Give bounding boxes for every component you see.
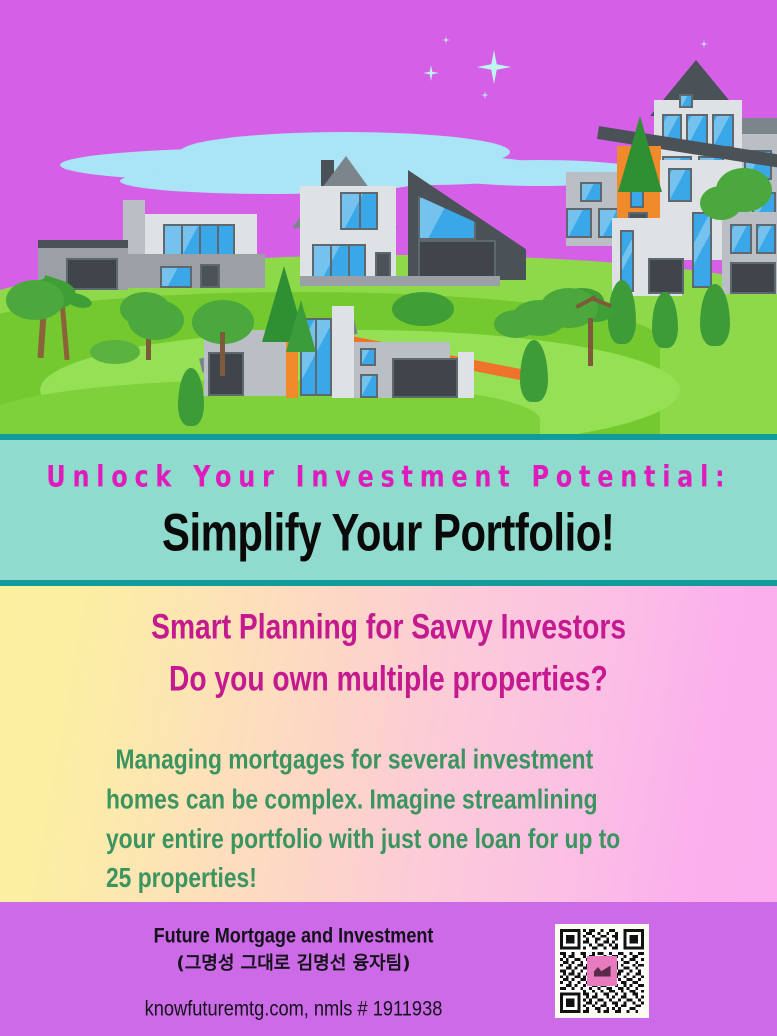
shrub (90, 340, 140, 364)
qr-center-logo (587, 956, 617, 986)
pine-tree (618, 116, 662, 192)
body-paragraph: Managing mortgages for several investmen… (106, 741, 644, 900)
tree-canopy (700, 186, 742, 220)
tree-trunk (220, 332, 225, 376)
subheading-primary: Smart Planning for Savvy Investors (151, 605, 626, 651)
website-and-nmls[interactable]: knowfuturemtg.com, nmls # 1911938 (12, 997, 576, 1022)
company-name-korean: (그명성 그대로 김명선 융자팀) (0, 951, 587, 977)
hero-illustration (0, 0, 777, 434)
tree-canopy (128, 300, 184, 340)
headline-banner: Unlock Your Investment Potential: Simpli… (0, 434, 777, 586)
tree-canopy (494, 310, 538, 338)
subheading-question: Do you own multiple properties? (169, 656, 608, 702)
logo-mark-icon (594, 966, 611, 977)
tree-canopy (6, 280, 64, 320)
qr-code[interactable] (555, 924, 649, 1018)
tree-trunk (588, 318, 593, 366)
footer-contact-block: Future Mortgage and Investment (그명성 그대로 … (0, 924, 587, 1021)
pine-tree (286, 300, 316, 352)
company-name: Future Mortgage and Investment (15, 922, 573, 951)
qr-code-matrix (560, 929, 644, 1013)
shrub (392, 292, 454, 326)
banner-kicker: Unlock Your Investment Potential: (46, 459, 731, 493)
marketing-flyer: Unlock Your Investment Potential: Simpli… (0, 0, 777, 1036)
footer-section: Future Mortgage and Investment (그명성 그대로 … (0, 902, 777, 1036)
body-section: Smart Planning for Savvy Investors Do yo… (0, 586, 777, 902)
banner-headline: Simplify Your Portfolio! (162, 502, 614, 563)
